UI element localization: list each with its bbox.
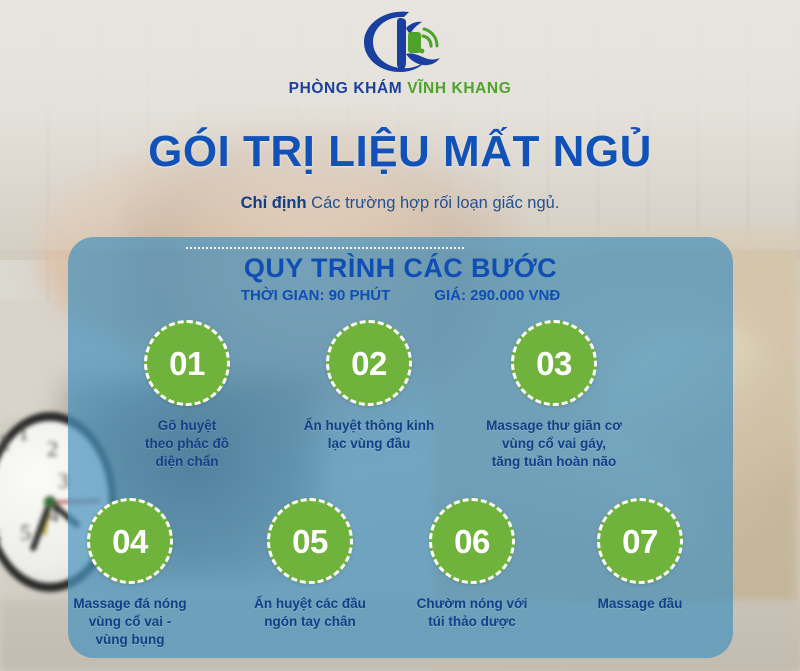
step-badge-02: 02 <box>326 320 412 406</box>
step-badge-07: 07 <box>597 498 683 584</box>
step-item-07[interactable]: 07 Massage đầu <box>561 498 719 613</box>
step-label: Gõ huyệt theo phác đồ diện chẩn <box>145 417 229 470</box>
panel-price: GIÁ: 290.000 VNĐ <box>434 287 560 304</box>
brand-logo: PHÒNG KHÁM VĨNH KHANG <box>0 8 800 98</box>
poster-root: 12 1 2 3 4 5 6 PHÒNG KHÁM <box>0 0 800 671</box>
brand-name-part1: PHÒNG KHÁM <box>289 80 403 97</box>
step-number: 04 <box>112 525 148 558</box>
step-label: Ấn huyệt thông kinh lạc vùng đầu <box>304 417 435 453</box>
clock-number: 12 <box>0 430 10 456</box>
step-number: 07 <box>622 525 658 558</box>
step-item-04[interactable]: 04 Massage đá nóng vùng cổ vai - vùng bụ… <box>40 498 220 648</box>
step-label: Chườm nóng với túi thảo dược <box>417 595 528 631</box>
brand-name: PHÒNG KHÁM VĨNH KHANG <box>289 80 512 98</box>
row-divider <box>186 247 464 249</box>
step-label: Massage đá nóng vùng cổ vai - vùng bụng <box>73 595 186 648</box>
page-subtitle: Chỉ định Các trường hợp rối loạn giấc ng… <box>0 194 800 213</box>
step-number: 02 <box>351 347 387 380</box>
clock-number: 1 <box>18 420 29 446</box>
crescent-hand-leaf-logo-icon <box>352 8 448 74</box>
panel-duration: THỜI GIAN: 90 PHÚT <box>241 287 390 304</box>
clock-number: 5 <box>20 520 31 546</box>
clock-number: 2 <box>47 436 58 462</box>
step-label: Massage thư giãn cơ vùng cổ vai gáy, tăn… <box>486 417 622 470</box>
subtitle-lead: Chỉ định <box>241 194 307 212</box>
subtitle-rest: Các trường hợp rối loạn giấc ngủ. <box>311 194 559 212</box>
step-item-03[interactable]: 03 Massage thư giãn cơ vùng cổ vai gáy, … <box>459 320 649 470</box>
step-item-02[interactable]: 02 Ấn huyệt thông kinh lạc vùng đầu <box>284 320 454 453</box>
step-number: 05 <box>292 525 328 558</box>
step-badge-01: 01 <box>144 320 230 406</box>
step-number: 01 <box>169 347 205 380</box>
page-title: GÓI TRỊ LIỆU MẤT NGỦ <box>0 127 800 177</box>
step-item-05[interactable]: 05 Ấn huyệt các đầu ngón tay chân <box>232 498 388 631</box>
step-item-01[interactable]: 01 Gõ huyệt theo phác đồ diện chẩn <box>107 320 267 470</box>
panel-title: QUY TRÌNH CÁC BƯỚC <box>68 253 733 284</box>
clock-number: 6 <box>0 524 1 550</box>
step-badge-06: 06 <box>429 498 515 584</box>
step-badge-03: 03 <box>511 320 597 406</box>
step-label: Massage đầu <box>598 595 683 613</box>
panel-meta: THỜI GIAN: 90 PHÚT GIÁ: 290.000 VNĐ <box>68 287 733 304</box>
step-number: 03 <box>536 347 572 380</box>
step-item-06[interactable]: 06 Chườm nóng với túi thảo dược <box>393 498 551 631</box>
brand-name-part2: VĨNH KHANG <box>407 80 511 97</box>
step-label: Ấn huyệt các đầu ngón tay chân <box>254 595 366 631</box>
step-badge-05: 05 <box>267 498 353 584</box>
step-number: 06 <box>454 525 490 558</box>
step-badge-04: 04 <box>87 498 173 584</box>
